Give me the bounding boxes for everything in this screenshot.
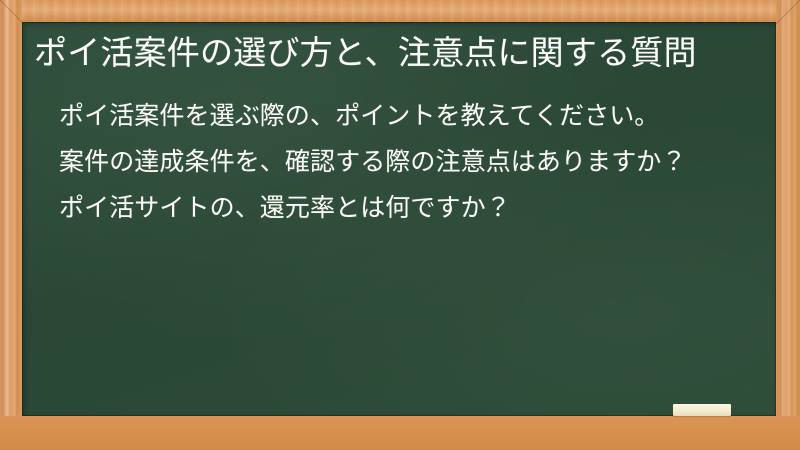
chalk-stick-icon bbox=[673, 404, 731, 416]
question-item-3: ポイ活サイトの、還元率とは何ですか？ bbox=[60, 187, 766, 228]
board-content: ポイ活案件の選び方と、注意点に関する質問 ポイ活案件を選ぶ際の、ポイントを教えて… bbox=[22, 22, 776, 416]
chalkboard-slide: ポイ活案件の選び方と、注意点に関する質問 ポイ活案件を選ぶ際の、ポイントを教えて… bbox=[0, 0, 800, 450]
question-item-1: ポイ活案件を選ぶ際の、ポイントを教えてください。 bbox=[60, 95, 766, 136]
question-item-2: 案件の達成条件を、確認する際の注意点はありますか？ bbox=[60, 141, 766, 182]
slide-title: ポイ活案件の選び方と、注意点に関する質問 bbox=[32, 31, 766, 75]
frame-rail-left bbox=[0, 0, 22, 450]
chalkboard-surface: ポイ活案件の選び方と、注意点に関する質問 ポイ活案件を選ぶ際の、ポイントを教えて… bbox=[22, 22, 776, 416]
frame-rail-top bbox=[0, 0, 800, 22]
frame-rail-right bbox=[776, 0, 800, 450]
frame-ledge-bottom bbox=[0, 416, 800, 450]
question-list: ポイ活案件を選ぶ際の、ポイントを教えてください。 案件の達成条件を、確認する際の… bbox=[32, 95, 766, 228]
